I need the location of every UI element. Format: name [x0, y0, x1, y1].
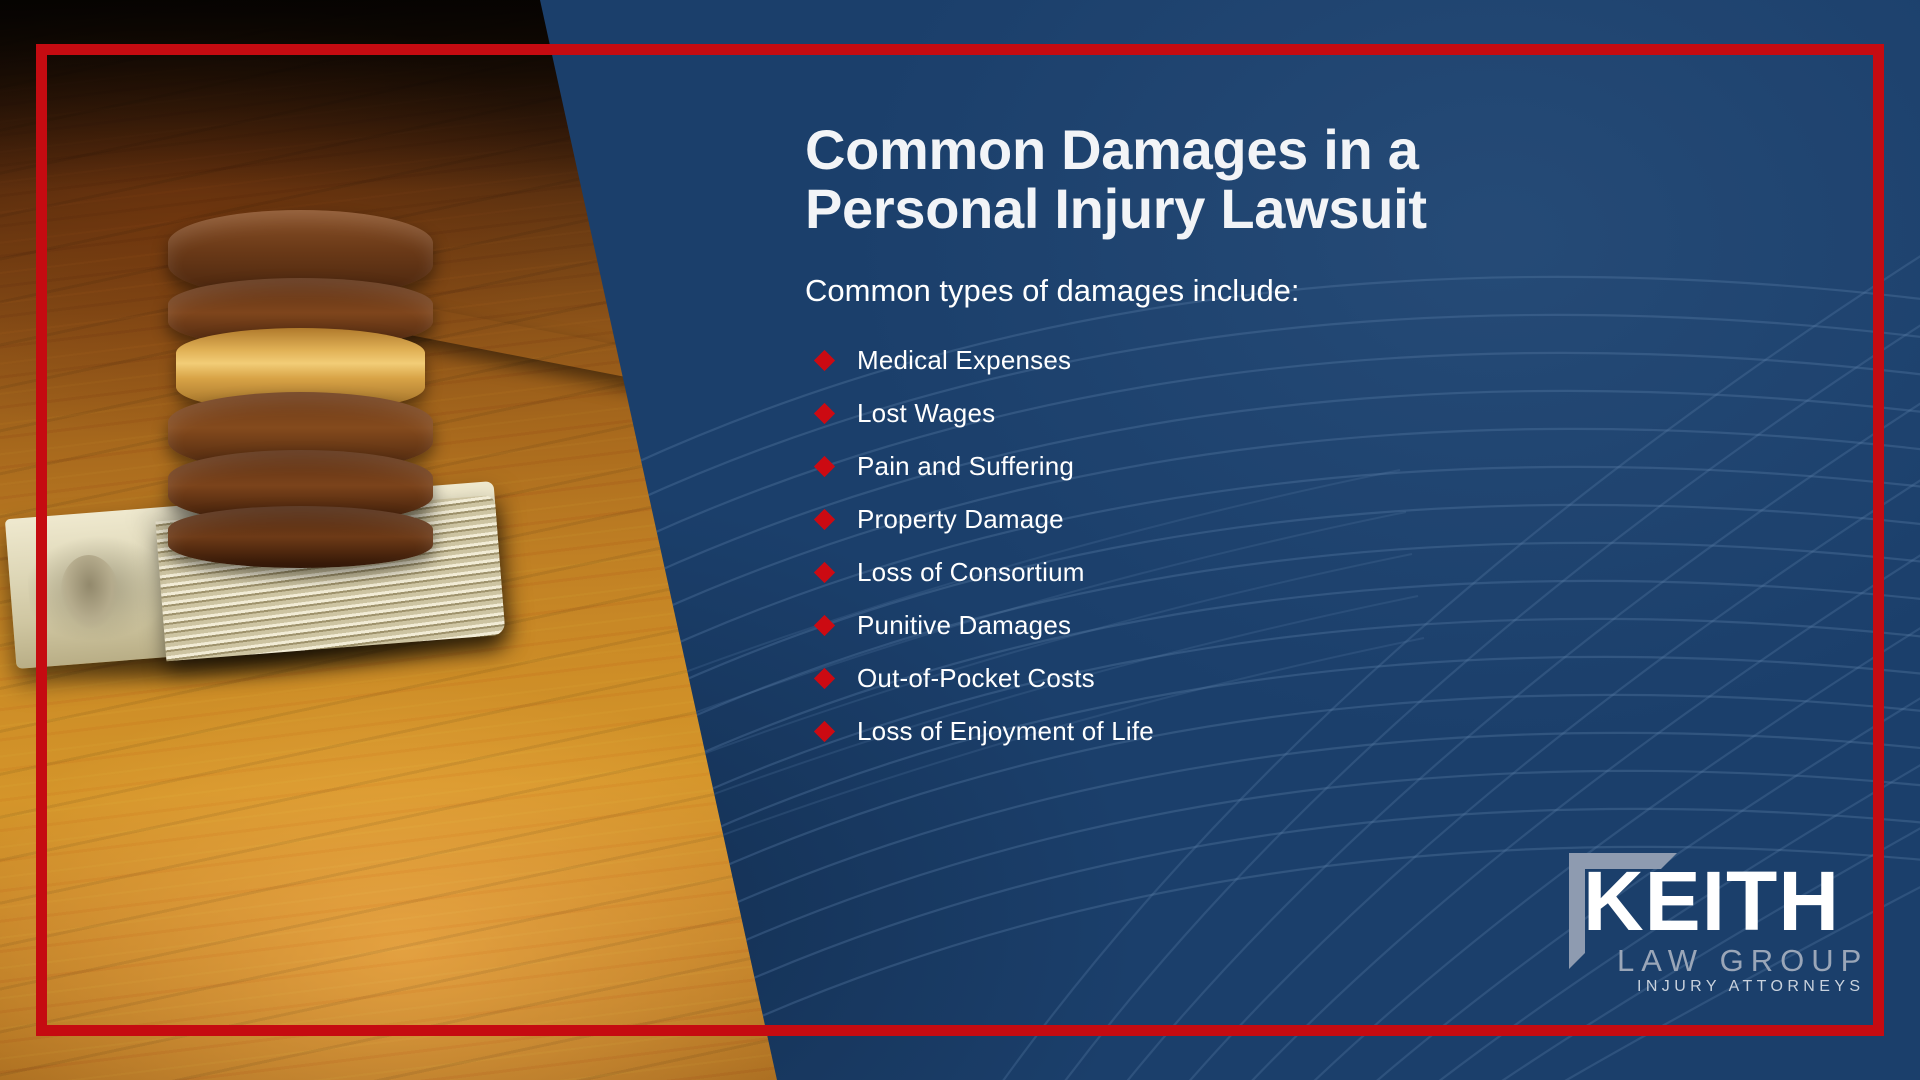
list-item: Property Damage	[817, 504, 1805, 535]
red-diamond-icon	[814, 456, 835, 477]
list-item-label: Punitive Damages	[857, 610, 1071, 641]
red-diamond-icon	[814, 350, 835, 371]
list-item: Loss of Enjoyment of Life	[817, 716, 1805, 747]
list-item-label: Pain and Suffering	[857, 451, 1074, 482]
keith-law-group-logo: KEITH LAW GROUP INJURY ATTORNEYS	[1565, 845, 1875, 1000]
logo-wordmark: KEITH	[1583, 859, 1840, 943]
subtitle: Common types of damages include:	[805, 273, 1805, 309]
list-item: Loss of Consortium	[817, 557, 1805, 588]
list-item: Pain and Suffering	[817, 451, 1805, 482]
red-diamond-icon	[814, 509, 835, 530]
red-diamond-icon	[814, 668, 835, 689]
gavel-head	[168, 210, 433, 440]
red-diamond-icon	[814, 403, 835, 424]
red-diamond-icon	[814, 562, 835, 583]
list-item-label: Medical Expenses	[857, 345, 1071, 376]
list-item: Punitive Damages	[817, 610, 1805, 641]
gavel-ring-bottom	[168, 506, 433, 568]
red-diamond-icon	[814, 615, 835, 636]
infographic-canvas: Common Damages in a Personal Injury Laws…	[0, 0, 1920, 1080]
list-item-label: Out-of-Pocket Costs	[857, 663, 1095, 694]
damages-list: Medical Expenses Lost Wages Pain and Suf…	[805, 345, 1805, 747]
list-item-label: Loss of Consortium	[857, 557, 1085, 588]
logo-line-law-group: LAW GROUP	[1617, 943, 1868, 979]
page-title: Common Damages in a Personal Injury Laws…	[805, 120, 1605, 239]
list-item-label: Property Damage	[857, 504, 1064, 535]
gavel	[120, 150, 550, 570]
list-item: Out-of-Pocket Costs	[817, 663, 1805, 694]
red-diamond-icon	[814, 721, 835, 742]
text-content-block: Common Damages in a Personal Injury Laws…	[805, 120, 1805, 769]
list-item-label: Lost Wages	[857, 398, 995, 429]
list-item: Medical Expenses	[817, 345, 1805, 376]
logo-line-injury-attorneys: INJURY ATTORNEYS	[1637, 978, 1864, 996]
list-item: Lost Wages	[817, 398, 1805, 429]
list-item-label: Loss of Enjoyment of Life	[857, 716, 1154, 747]
